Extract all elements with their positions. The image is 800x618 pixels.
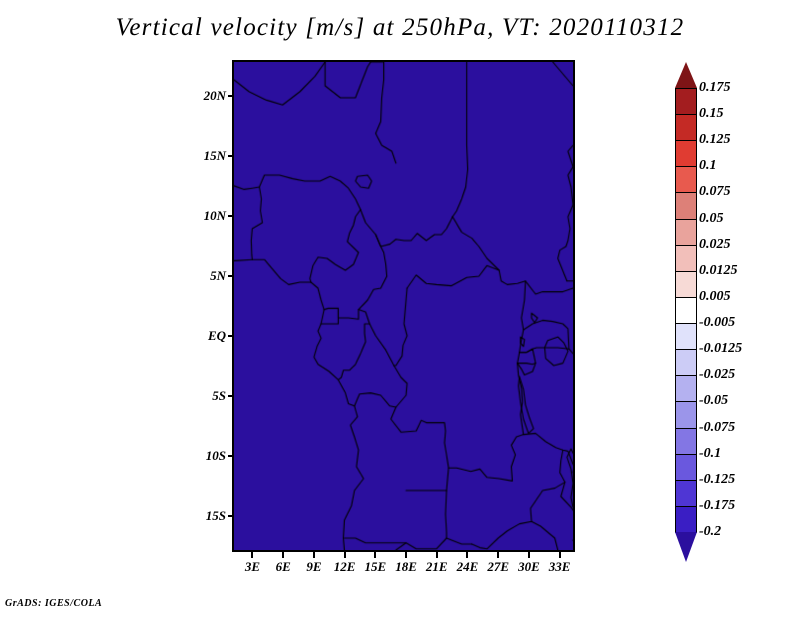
colorbar-tick-label: -0.05 (699, 394, 728, 408)
x-tick-mark (466, 552, 468, 558)
colorbar-tick-label: 0.025 (699, 238, 731, 252)
y-tick-label: 5S (180, 389, 226, 402)
colorbar-tick-label: 0.075 (699, 185, 731, 199)
x-tick-mark (559, 552, 561, 558)
colorbar-tick-label: -0.125 (699, 473, 735, 487)
colorbar-tick-label: 0.175 (699, 81, 731, 95)
y-tick-mark (228, 275, 234, 277)
x-tick-mark (344, 552, 346, 558)
colorbar-band (675, 454, 697, 481)
colorbar-tick-label: -0.025 (699, 368, 735, 382)
x-tick-mark (374, 552, 376, 558)
colorbar-band (675, 192, 697, 219)
map-plot-area (232, 60, 575, 552)
colorbar-band (675, 428, 697, 455)
colorbar-tick-label: -0.1 (699, 447, 721, 461)
y-tick-label: 20N (180, 89, 226, 102)
colorbar-tick-label: -0.005 (699, 316, 735, 330)
colorbar-tick-label: -0.175 (699, 499, 735, 513)
colorbar-band (675, 245, 697, 272)
x-tick-mark (251, 552, 253, 558)
y-tick-mark (228, 335, 234, 337)
colorbar-band (675, 349, 697, 376)
y-tick-label: 15N (180, 149, 226, 162)
x-tick-mark (528, 552, 530, 558)
y-tick-mark (228, 395, 234, 397)
x-tick-mark (497, 552, 499, 558)
colorbar-band (675, 88, 697, 115)
colorbar-tick-label: 0.1 (699, 159, 717, 173)
x-tick-mark (405, 552, 407, 558)
y-tick-label: EQ (180, 329, 226, 342)
y-tick-mark (228, 455, 234, 457)
page-title: Vertical velocity [m/s] at 250hPa, VT: 2… (0, 14, 800, 42)
colorbar: 0.1750.150.1250.10.0750.050.0250.01250.0… (675, 62, 697, 562)
y-tick-label: 5N (180, 269, 226, 282)
colorbar-tick-label: -0.075 (699, 421, 735, 435)
colorbar-band (675, 297, 697, 324)
country-borders-overlay (234, 62, 573, 550)
y-tick-label: 10S (180, 449, 226, 462)
colorbar-band (675, 401, 697, 428)
colorbar-band (675, 480, 697, 507)
colorbar-tick-label: 0.0125 (699, 264, 738, 278)
colorbar-band (675, 114, 697, 141)
x-tick-mark (313, 552, 315, 558)
colorbar-band (675, 166, 697, 193)
colorbar-band (675, 271, 697, 298)
x-tick-mark (282, 552, 284, 558)
colorbar-band (675, 323, 697, 350)
y-tick-mark (228, 95, 234, 97)
colorbar-band (675, 506, 697, 533)
y-tick-label: 10N (180, 209, 226, 222)
colorbar-tick-label: 0.125 (699, 133, 731, 147)
colorbar-band (675, 140, 697, 167)
colorbar-tick-label: 0.15 (699, 107, 724, 121)
attribution-label: GrADS: IGES/COLA (5, 598, 102, 609)
colorbar-tick-label: -0.0125 (699, 342, 742, 356)
colorbar-band (675, 219, 697, 246)
x-tick-label: 33E (538, 560, 582, 573)
y-tick-mark (228, 215, 234, 217)
colorbar-tick-label: 0.05 (699, 212, 724, 226)
y-tick-mark (228, 515, 234, 517)
colorbar-extend-max-arrow (675, 62, 697, 88)
y-tick-label: 15S (180, 509, 226, 522)
colorbar-tick-label: -0.2 (699, 525, 721, 539)
y-tick-mark (228, 155, 234, 157)
x-tick-mark (436, 552, 438, 558)
colorbar-extend-min-arrow (675, 532, 697, 562)
colorbar-tick-label: 0.005 (699, 290, 731, 304)
colorbar-band (675, 375, 697, 402)
